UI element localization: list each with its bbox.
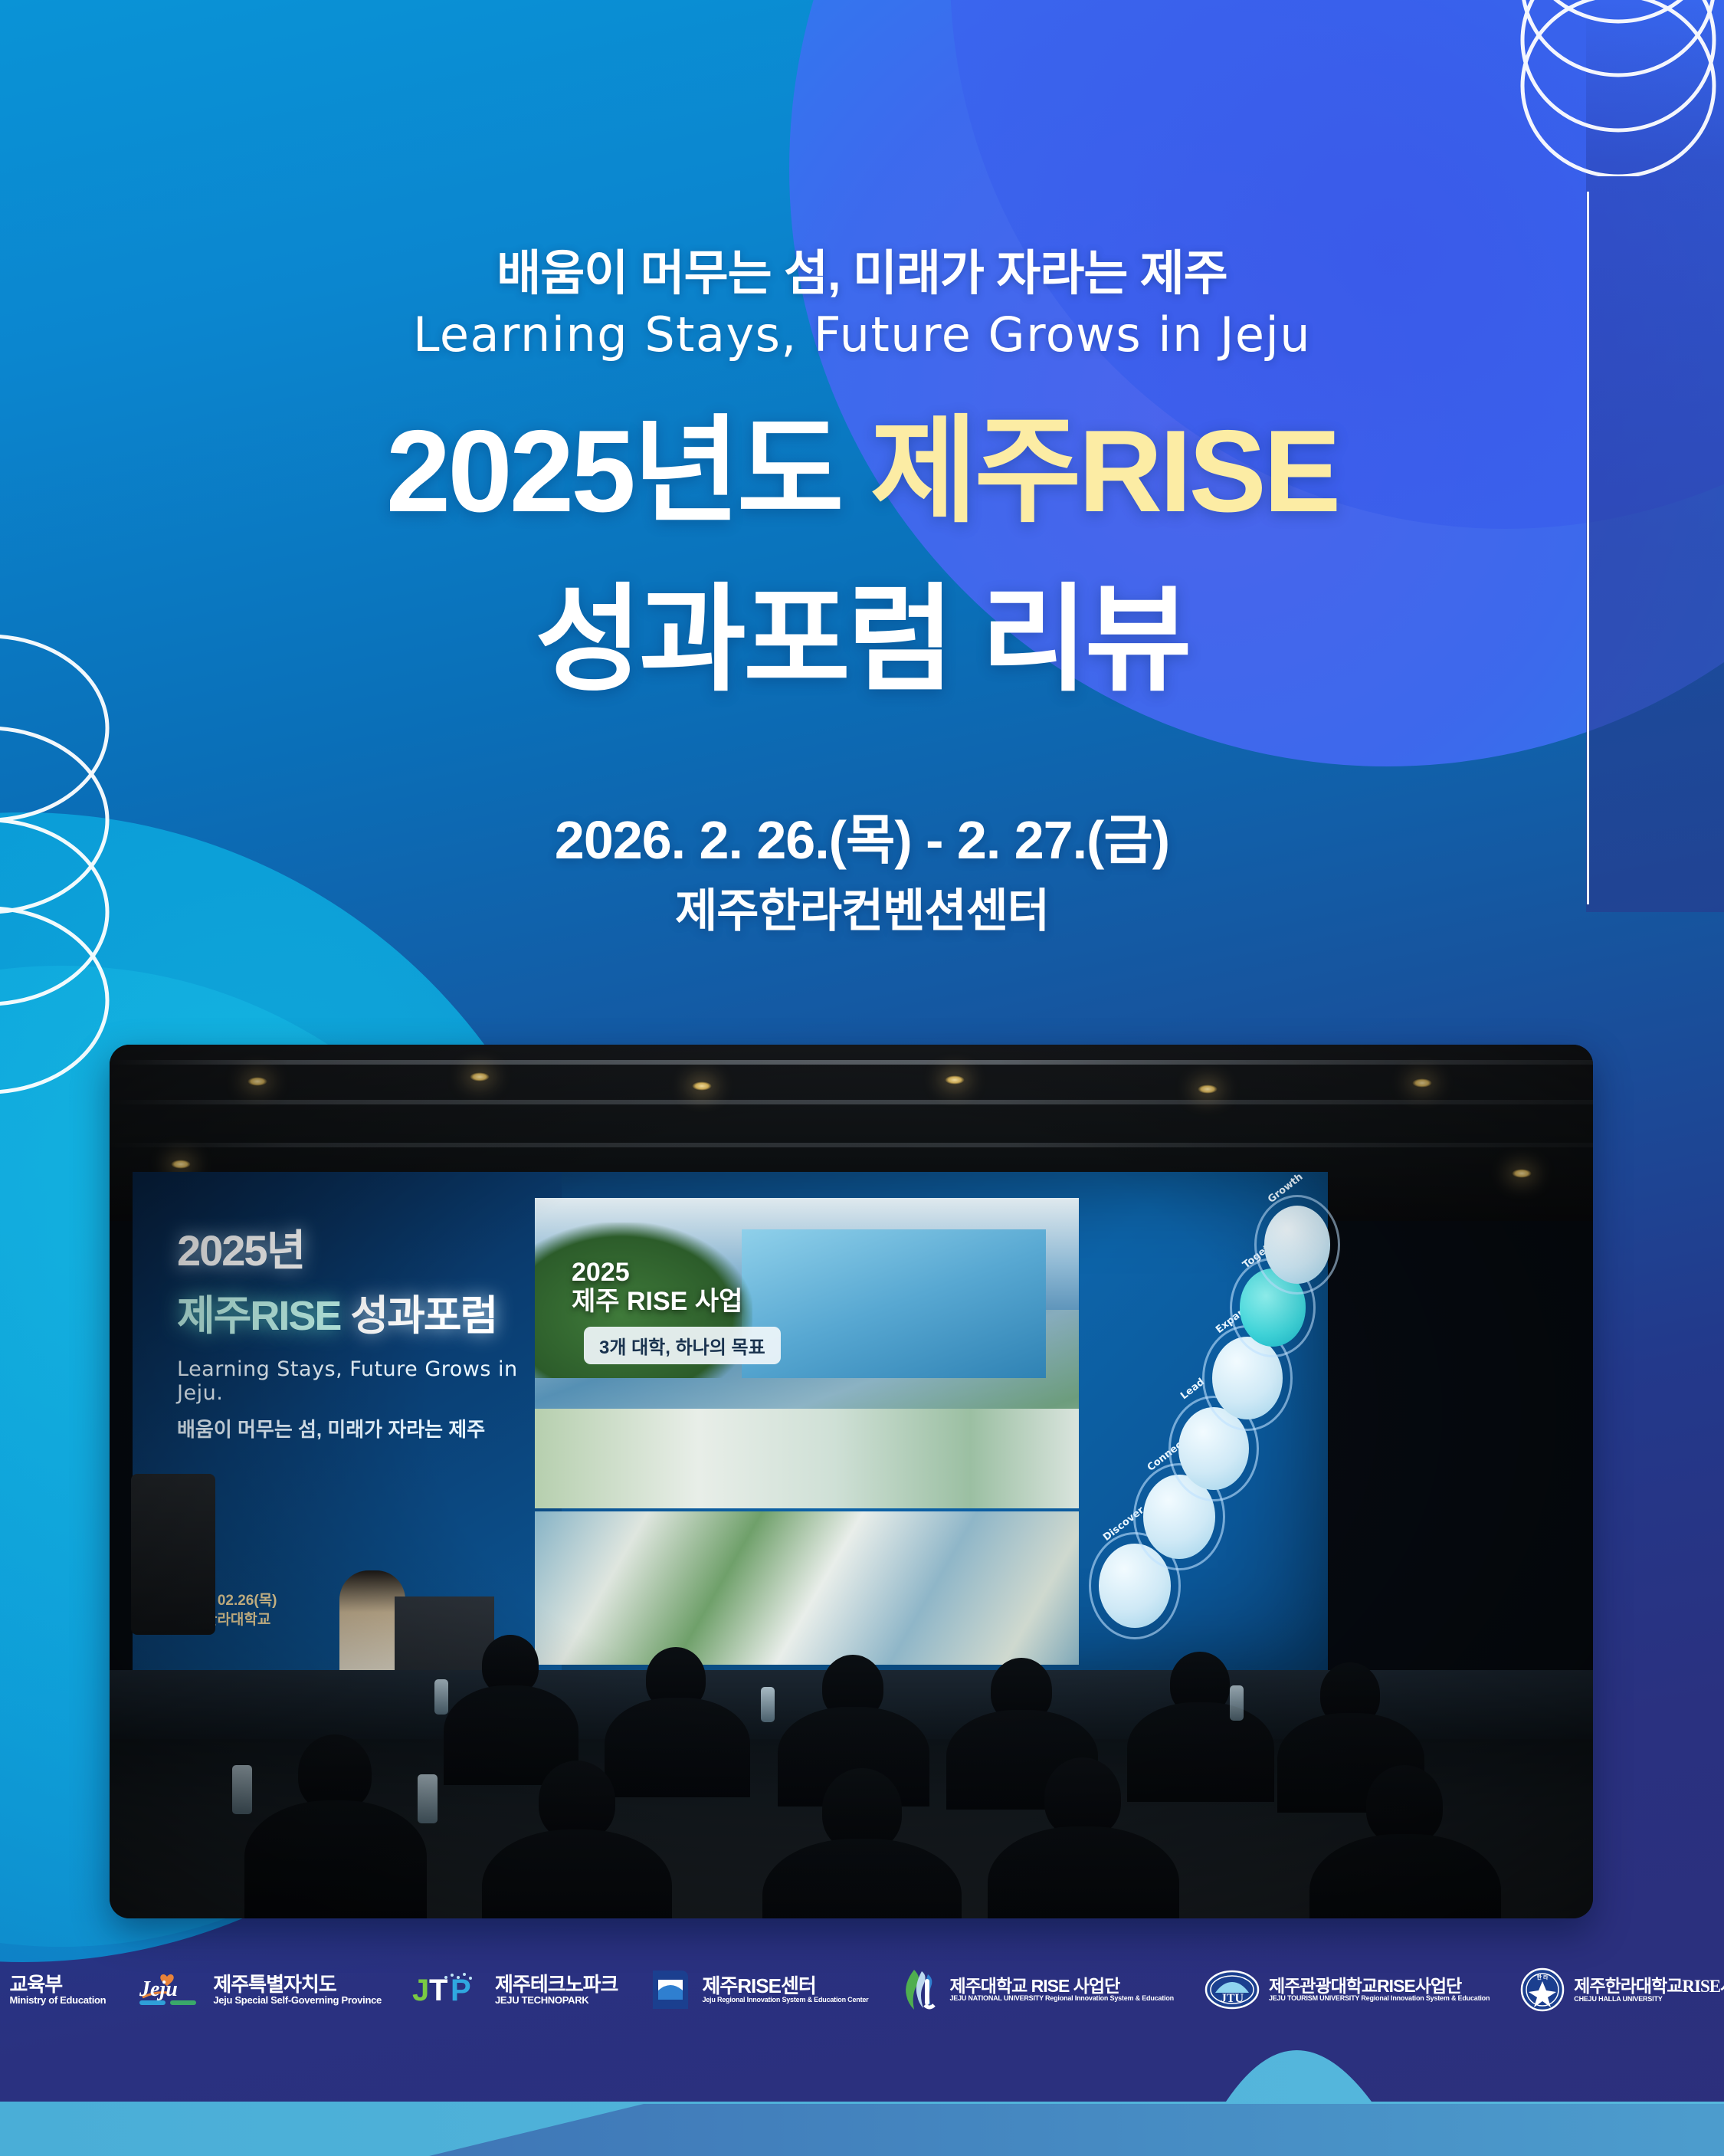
ceiling-spotlight-icon: [692, 1081, 712, 1091]
water-bottle-icon: [761, 1687, 775, 1722]
logo-jeju-national-university-rise: 제주대학교 RISE 사업단 JEJU NATIONAL UNIVERSITY …: [899, 1967, 1173, 2013]
logo-name-kr: 제주테크노파크: [495, 1974, 618, 1995]
title-year-text: 2025년도: [386, 406, 870, 537]
led-wall-right-panel: Discover Connect Lead Expand Together: [1083, 1172, 1328, 1670]
logo-text: 제주특별자치도 Jeju Special Self-Governing Prov…: [213, 1974, 382, 2006]
svg-text:P: P: [451, 1974, 471, 2007]
svg-text:한 라: 한 라: [1537, 1974, 1549, 1980]
stage-speaker-icon: [131, 1474, 215, 1635]
jtu-emblem-icon: JTU: [1205, 1970, 1260, 2010]
water-bottle-icon: [1230, 1685, 1244, 1721]
audience-shoulders-front: [244, 1800, 427, 1918]
logo-jeju-rise-center: 제주RISE센터 Jeju Regional Innovation System…: [648, 1967, 868, 2012]
logo-name-kr: 제주한라대학교RISE사업단: [1574, 1977, 1724, 1996]
logo-name-en: Ministry of Education: [9, 1995, 106, 2006]
led-subtitle-english: Learning Stays, Future Grows in Jeju.: [177, 1357, 562, 1405]
tagline-english: Learning Stays, Future Grows in Jeju: [0, 307, 1724, 363]
led-photo-title: 2025 제주 RISE 사업: [572, 1258, 742, 1316]
page-title-line2: 성과포럼 리뷰: [0, 575, 1724, 705]
logo-text: 교육부 Ministry of Education: [9, 1974, 106, 2006]
photo-truss-bar: [110, 1143, 1593, 1147]
photo-truss-bar: [110, 1060, 1593, 1065]
led-title-main: 제주RISE 성과포럼: [177, 1281, 562, 1342]
logo-jeju-province: Jeju 제주특별자치도 Jeju Special Self-Governing…: [136, 1970, 382, 2010]
rise-center-icon: [648, 1967, 693, 2012]
logo-name-en: Jeju Regional Innovation System & Educat…: [702, 1997, 868, 2003]
svg-text:Jeju: Jeju: [139, 1977, 178, 2001]
logo-text: 제주관광대학교RISE사업단 JEJU TOURISM UNIVERSITY R…: [1269, 1977, 1490, 2003]
logo-cheju-halla-university-rise: 한 라 제주한라대학교RISE사업단 CHEJU HALLA UNIVERSIT…: [1520, 1967, 1724, 2012]
water-bottle-icon: [418, 1774, 438, 1823]
logo-name-kr-rise: RISE사업단: [1682, 1977, 1724, 1996]
event-venue: 제주한라컨벤션센터: [0, 874, 1724, 940]
logo-text: 제주테크노파크 JEJU TECHNOPARK: [495, 1974, 618, 2006]
led-photo-building: [742, 1229, 1047, 1378]
ceiling-spotlight-icon: [1412, 1078, 1432, 1088]
title-accent-text: 제주RISE: [870, 406, 1338, 537]
logo-jeju-tourism-university-rise: JTU 제주관광대학교RISE사업단 JEJU TOURISM UNIVERSI…: [1205, 1970, 1490, 2010]
ceiling-spotlight-icon: [171, 1160, 191, 1169]
svg-text:T: T: [429, 1974, 447, 2007]
jnu-emblem-icon: [899, 1967, 940, 2013]
audience-head-front: [298, 1734, 372, 1811]
logo-name-kr-primary: 제주한라대학교: [1574, 1976, 1682, 1996]
halla-emblem-icon: 한 라: [1520, 1967, 1565, 2012]
logo-name-en: Jeju Special Self-Governing Province: [213, 1995, 382, 2006]
bottom-mountain-band: [0, 2008, 1724, 2156]
logo-jeju-technopark: J T P 제주테크노파크 JEJU TECHNOPARK: [412, 1970, 618, 2010]
audience-head-front: [1366, 1765, 1443, 1845]
logo-name-en: JEJU NATIONAL UNIVERSITY Regional Innova…: [949, 1995, 1173, 2002]
led-wall-center-photo: 2025 제주 RISE 사업 3개 대학, 하나의 목표: [535, 1198, 1079, 1508]
logo-name-kr: 교육부: [9, 1974, 106, 1995]
audience-shoulders: [605, 1698, 750, 1797]
logo-ministry-of-education: 교육부 Ministry of Education: [0, 1968, 106, 2011]
led-photo-project: 제주 RISE 사업: [572, 1287, 742, 1316]
water-bottle-icon: [434, 1679, 448, 1715]
water-bottle-icon: [232, 1765, 252, 1814]
logo-name-kr: 제주대학교 RISE 사업단: [949, 1977, 1173, 1995]
led-subtitle-korean: 배움이 머무는 섬, 미래가 자라는 제주: [177, 1414, 562, 1442]
led-wall-lower-photo-strip: [535, 1511, 1079, 1665]
poster-root: 배움이 머무는 섬, 미래가 자라는 제주 Learning Stays, Fu…: [0, 0, 1724, 2156]
led-title-year: 2025년: [177, 1216, 562, 1278]
led-photo-lower-strip: [535, 1409, 1079, 1508]
ceiling-spotlight-icon: [470, 1072, 490, 1081]
led-title-rise: 제주RISE: [177, 1293, 350, 1339]
ceiling-spotlight-icon: [945, 1075, 965, 1085]
audience-head-front: [539, 1761, 615, 1840]
logo-name-kr: 제주관광대학교RISE사업단: [1269, 1977, 1490, 1995]
audience-shoulders: [1127, 1702, 1274, 1802]
logo-name-kr: 제주특별자치도: [213, 1974, 382, 1995]
page-title-line1: 2025년도 제주RISE: [0, 406, 1724, 537]
ceiling-spotlight-icon: [1198, 1085, 1218, 1094]
svg-text:J: J: [412, 1974, 429, 2007]
bubble-pattern-grid: [1264, 1206, 1331, 1284]
photo-truss-bar: [110, 1100, 1593, 1104]
led-photo-year: 2025: [572, 1258, 742, 1287]
logo-text: 제주한라대학교RISE사업단 CHEJU HALLA UNIVERSITY: [1574, 1977, 1724, 2003]
led-title-forum: 성과포럼: [350, 1293, 497, 1339]
logo-text: 제주대학교 RISE 사업단 JEJU NATIONAL UNIVERSITY …: [949, 1977, 1173, 2003]
ceiling-spotlight-icon: [247, 1077, 267, 1086]
led-wall: 2025년 제주RISE 성과포럼 Learning Stays, Future…: [133, 1172, 1328, 1670]
logo-text: 제주RISE센터 Jeju Regional Innovation System…: [702, 1976, 868, 2004]
event-photo: 2025년 제주RISE 성과포럼 Learning Stays, Future…: [110, 1045, 1593, 1918]
led-photo-chip: 3개 대학, 하나의 목표: [584, 1327, 781, 1364]
jeju-wordmark-icon: Jeju: [136, 1970, 204, 2010]
bubble-growth: [1254, 1195, 1340, 1295]
jtp-icon: J T P: [412, 1970, 486, 2010]
svg-text:JTU: JTU: [1221, 1992, 1244, 2005]
ceiling-spotlight-icon: [1512, 1169, 1532, 1178]
audience-head-front: [1044, 1757, 1121, 1837]
logo-name-en: JEJU TECHNOPARK: [495, 1995, 618, 2006]
event-date: 2026. 2. 26.(목) - 2. 27.(금): [0, 797, 1724, 875]
logo-name-en: JEJU TOURISM UNIVERSITY Regional Innovat…: [1269, 1995, 1490, 2002]
logo-name-kr: 제주RISE센터: [702, 1976, 868, 1997]
logo-name-en: CHEJU HALLA UNIVERSITY: [1574, 1996, 1724, 2003]
tagline-korean: 배움이 머무는 섬, 미래가 자라는 제주: [0, 235, 1724, 304]
